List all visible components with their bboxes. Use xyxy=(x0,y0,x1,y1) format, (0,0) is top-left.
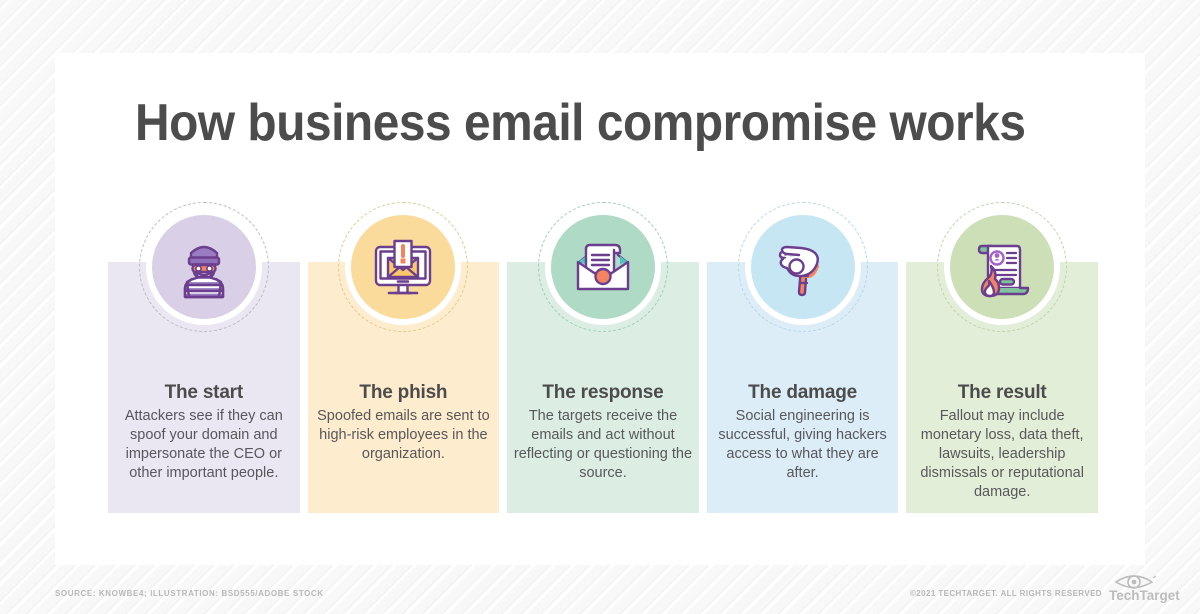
source-credit: SOURCE: KNOWBE4; ILLUSTRATION: BSD555/AD… xyxy=(55,589,324,598)
step-icon-badge xyxy=(745,209,861,325)
step-column-response: The response The targets receive the ema… xyxy=(507,262,699,513)
step-body: Social engineering is successful, giving… xyxy=(709,407,897,483)
step-body: Spoofed emails are sent to high-risk emp… xyxy=(310,407,498,464)
step-icon-badge xyxy=(545,209,661,325)
infographic-card: How business email compromise works xyxy=(55,53,1145,565)
step-icon-badge xyxy=(345,209,461,325)
step-body: The targets receive the emails and act w… xyxy=(509,407,697,483)
step-heading: The damage xyxy=(707,382,899,404)
open-envelope-letter-icon xyxy=(567,231,639,303)
eye-logo-icon xyxy=(1116,576,1156,588)
hand-holding-key-icon xyxy=(767,231,839,303)
step-body: Attackers see if they can spoof your dom… xyxy=(110,407,298,483)
step-icon-badge xyxy=(944,209,1060,325)
logo-wordmark: TechTarget xyxy=(1109,588,1180,603)
step-body: Fallout may include monetary loss, data … xyxy=(908,407,1096,502)
step-heading: The phish xyxy=(308,382,500,404)
step-heading: The result xyxy=(906,382,1098,404)
thief-icon xyxy=(168,231,240,303)
step-column-result: The result Fallout may include monetary … xyxy=(906,262,1098,513)
step-column-phish: The phish Spoofed emails are sent to hig… xyxy=(308,262,500,513)
burning-document-icon xyxy=(966,231,1038,303)
steps-row: The start Attackers see if they can spoo… xyxy=(108,262,1098,513)
step-heading: The start xyxy=(108,382,300,404)
step-icon-badge xyxy=(146,209,262,325)
step-heading: The response xyxy=(507,382,699,404)
page-title: How business email compromise works xyxy=(135,93,1018,153)
step-column-damage: The damage Social engineering is success… xyxy=(707,262,899,513)
monitor-phishing-email-icon xyxy=(367,231,439,303)
step-column-start: The start Attackers see if they can spoo… xyxy=(108,262,300,513)
techtarget-logo: TechTarget xyxy=(1108,570,1182,604)
copyright-notice: ©2021 TECHTARGET. ALL RIGHTS RESERVED xyxy=(910,589,1102,598)
